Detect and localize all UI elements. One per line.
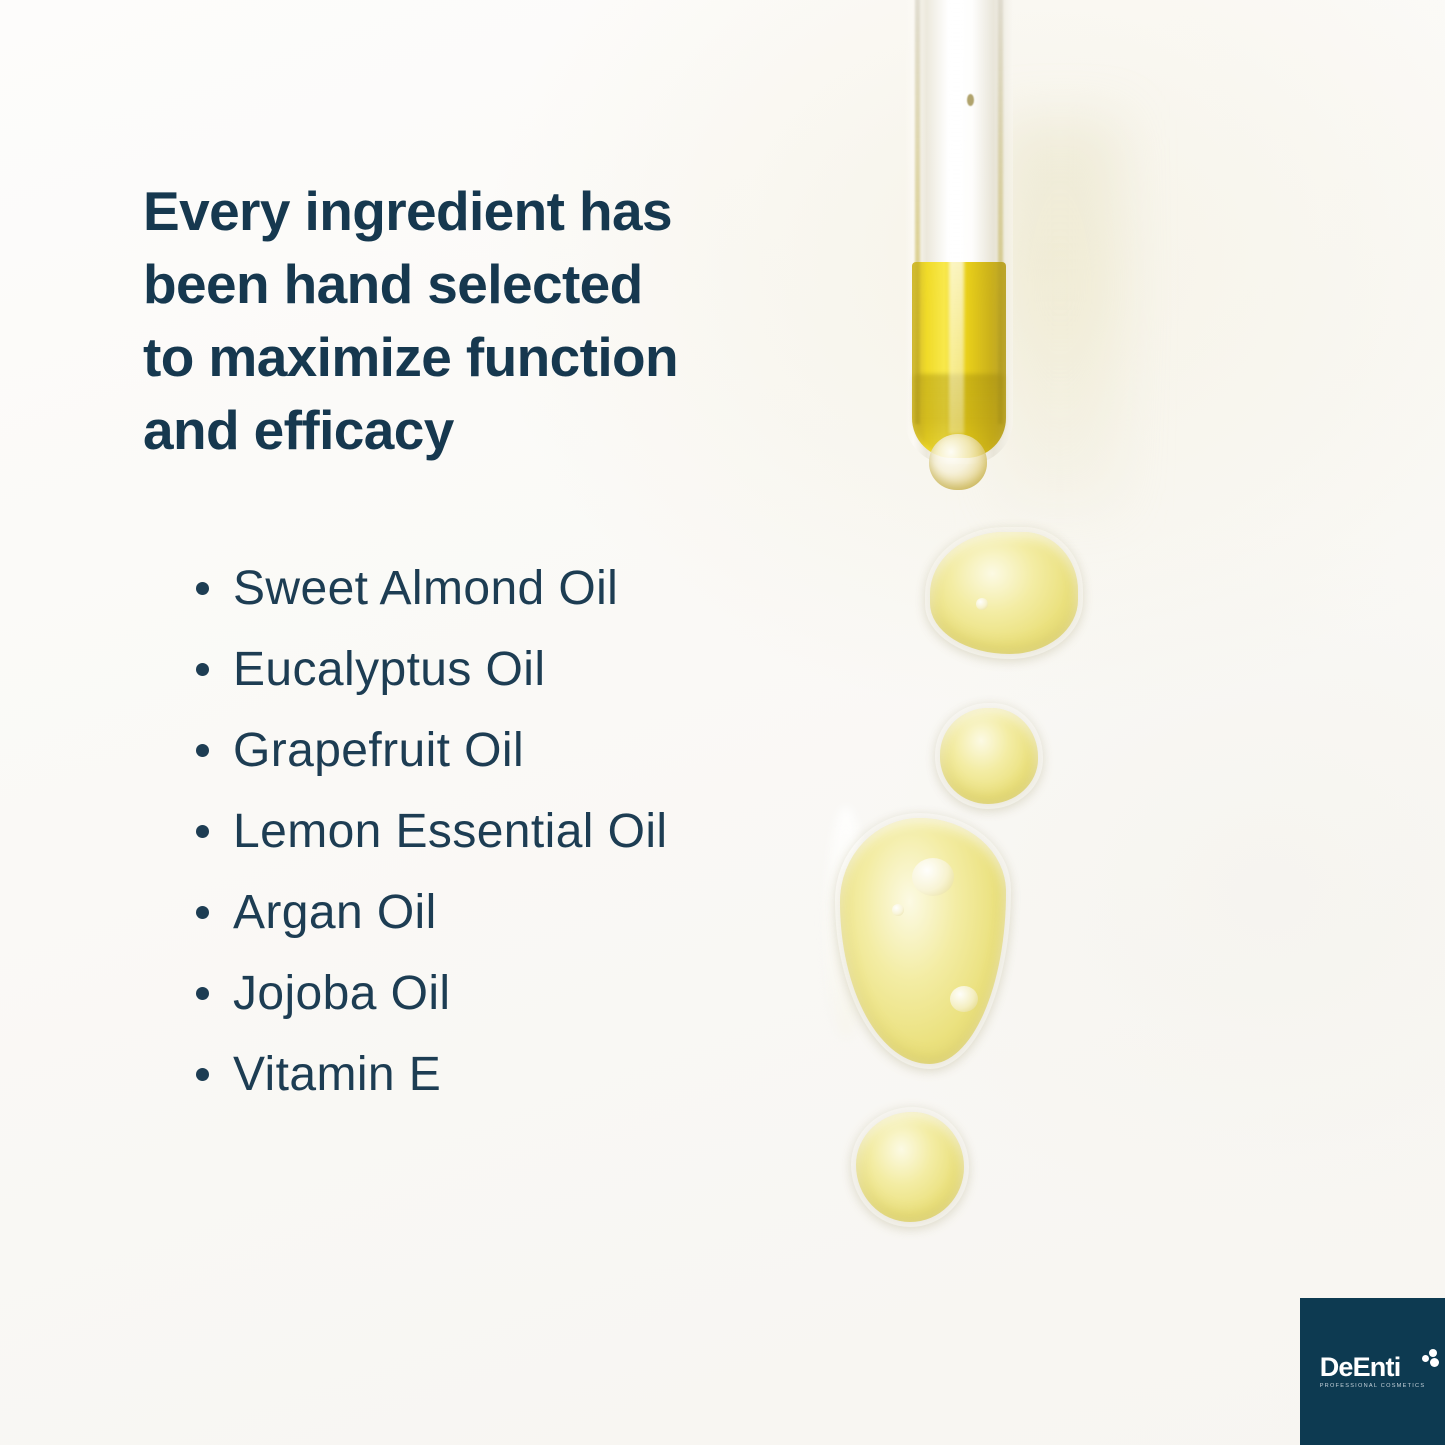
bullet-icon [196, 1068, 209, 1081]
droplet-bubble-small [892, 904, 904, 916]
oil-droplet-small-round [940, 708, 1038, 804]
list-item: Vitamin E [196, 1034, 816, 1115]
brand-dots-icon [1422, 1349, 1442, 1369]
brand-badge: DeEnti PROFESSIONAL COSMETICS [1300, 1298, 1445, 1445]
brand-tagline: PROFESSIONAL COSMETICS [1320, 1384, 1426, 1390]
oil-droplet-lower-round [856, 1112, 964, 1222]
oil-droplet-large-kidney [840, 818, 1006, 1064]
droplet-body [856, 1112, 964, 1222]
oil-droplet-irregular [930, 532, 1078, 654]
ingredient-label: Eucalyptus Oil [233, 646, 545, 694]
list-item: Eucalyptus Oil [196, 629, 816, 710]
ingredient-label: Sweet Almond Oil [233, 565, 618, 613]
ingredient-label: Jojoba Oil [233, 970, 450, 1018]
bullet-icon [196, 987, 209, 1000]
pipette-tip-droplet [929, 434, 987, 490]
droplet-bubble-medium [950, 986, 978, 1012]
ingredient-label: Lemon Essential Oil [233, 808, 667, 856]
bullet-icon [196, 825, 209, 838]
pipette-highlight [949, 0, 964, 434]
ingredient-label: Vitamin E [233, 1051, 441, 1099]
list-item: Argan Oil [196, 872, 816, 953]
pipette-shadow [1000, 120, 1120, 510]
pipette-speck [967, 94, 974, 106]
promo-canvas: Every ingredient has been hand selected … [0, 0, 1445, 1445]
droplet-body [940, 708, 1038, 804]
ingredient-list: Sweet Almond Oil Eucalyptus Oil Grapefru… [196, 548, 816, 1115]
list-item: Sweet Almond Oil [196, 548, 816, 629]
droplet-bubble [976, 598, 988, 610]
bullet-icon [196, 744, 209, 757]
ingredient-label: Grapefruit Oil [233, 727, 524, 775]
list-item: Lemon Essential Oil [196, 791, 816, 872]
bullet-icon [196, 582, 209, 595]
page-title: Every ingredient has been hand selected … [143, 175, 823, 468]
bullet-icon [196, 906, 209, 919]
brand-lockup: DeEnti PROFESSIONAL COSMETICS [1320, 1354, 1426, 1390]
pipette-edge-right [998, 0, 1003, 424]
bullet-icon [196, 663, 209, 676]
list-item: Grapefruit Oil [196, 710, 816, 791]
dropper-pipette-image [905, 0, 1013, 464]
droplet-bubble-large [912, 858, 954, 896]
ingredient-label: Argan Oil [233, 889, 437, 937]
pipette-edge-left [915, 0, 920, 424]
droplet-body [930, 532, 1078, 654]
list-item: Jojoba Oil [196, 953, 816, 1034]
brand-wordmark: DeEnti [1320, 1354, 1401, 1381]
